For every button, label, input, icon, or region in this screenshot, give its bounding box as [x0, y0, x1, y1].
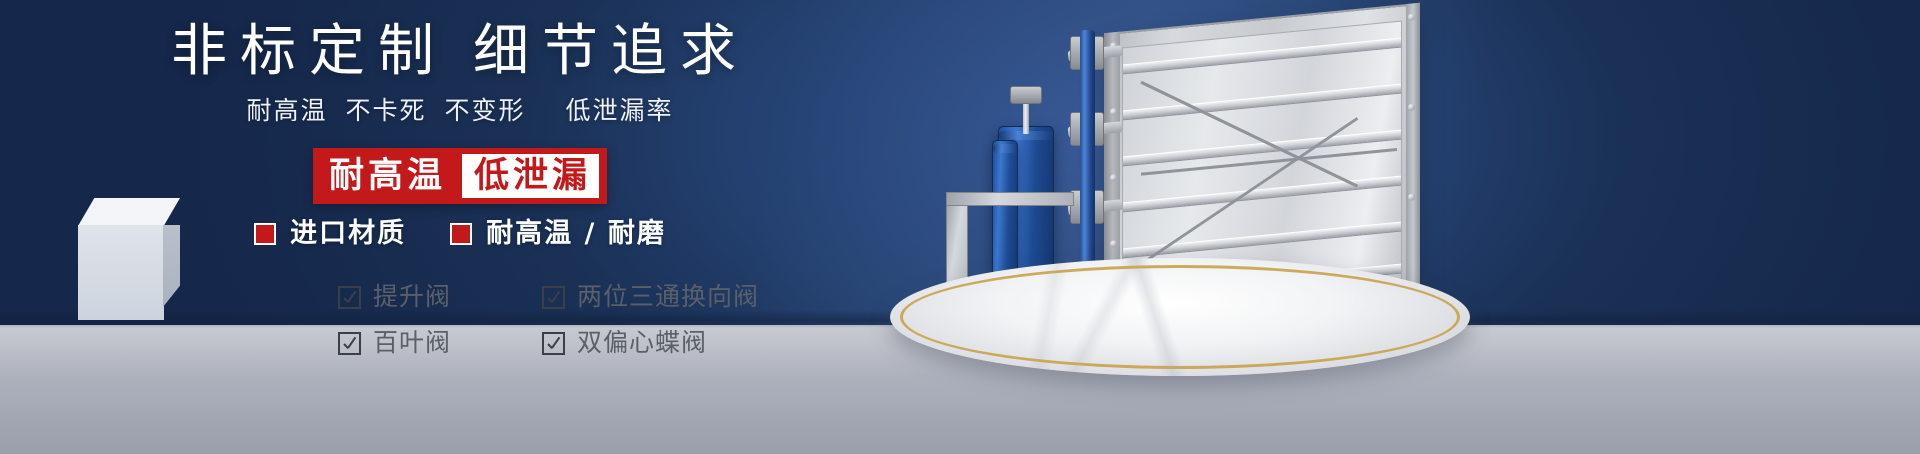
feature-square-row: 进口材质 耐高温 / 耐磨	[0, 218, 920, 250]
checkbox-checked-icon	[542, 332, 565, 355]
badge-right-text: 低泄漏	[462, 154, 599, 198]
promotional-banner: 非标定制细节追求 耐高温不卡死不变形低泄漏率 耐高温 低泄漏 进口材质 耐高温 …	[0, 0, 1920, 454]
damper-blade	[1123, 222, 1401, 259]
red-square-icon	[450, 223, 472, 245]
page-title: 非标定制细节追求	[0, 16, 920, 88]
banner-text-block: 非标定制细节追求 耐高温不卡死不变形低泄漏率 耐高温 低泄漏 进口材质 耐高温 …	[0, 0, 920, 454]
list-item: 两位三通换向阀	[542, 282, 759, 312]
mounting-frame-top-rail	[946, 192, 1074, 206]
feature-item-material: 进口材质	[254, 218, 406, 250]
list-item: 提升阀	[338, 282, 528, 312]
subtitle-item-2: 不卡死	[345, 96, 426, 125]
pedestal-gold-ring	[900, 265, 1460, 369]
highlight-badge-wrapper: 耐高温 低泄漏	[0, 148, 920, 204]
red-square-icon	[254, 223, 276, 245]
actuator-rod	[1023, 100, 1029, 134]
product-checklist: 提升阀 两位三通换向阀 百叶阀 双偏心蝶阀	[338, 282, 759, 358]
subtitle-item-1: 耐高温	[246, 96, 327, 125]
checkbox-checked-icon	[338, 332, 361, 355]
badge-left-text: 耐高温	[327, 154, 462, 198]
subtitle-item-3: 不变形	[445, 96, 526, 125]
damper-blade	[1123, 38, 1401, 75]
headline-part-1: 非标定制	[171, 19, 447, 84]
checkbox-checked-icon	[542, 286, 565, 309]
feature-label-material: 进口材质	[290, 218, 406, 250]
list-item: 百叶阀	[338, 328, 528, 358]
actuator-rod-clamp	[1010, 86, 1042, 104]
subtitle-item-4: 低泄漏率	[566, 96, 674, 125]
feature-item-heat-wear: 耐高温 / 耐磨	[450, 218, 666, 250]
status-badge: 耐高温 低泄漏	[313, 148, 607, 204]
subtitle: 耐高温不卡死不变形低泄漏率	[0, 94, 920, 128]
secondary-actuator-cap	[993, 144, 1017, 153]
headline-part-2: 细节追求	[473, 19, 749, 84]
product-image	[880, 0, 1920, 454]
list-item: 双偏心蝶阀	[542, 328, 759, 358]
feature-label-heat-wear: 耐高温 / 耐磨	[486, 218, 666, 250]
checklist-label-3: 百叶阀	[373, 328, 451, 358]
marble-pedestal	[890, 258, 1470, 388]
checklist-label-4: 双偏心蝶阀	[577, 328, 707, 358]
checkbox-checked-icon	[338, 286, 361, 309]
damper-blade	[1123, 84, 1401, 121]
checklist-label-2: 两位三通换向阀	[577, 282, 759, 312]
checklist-label-1: 提升阀	[373, 282, 451, 312]
